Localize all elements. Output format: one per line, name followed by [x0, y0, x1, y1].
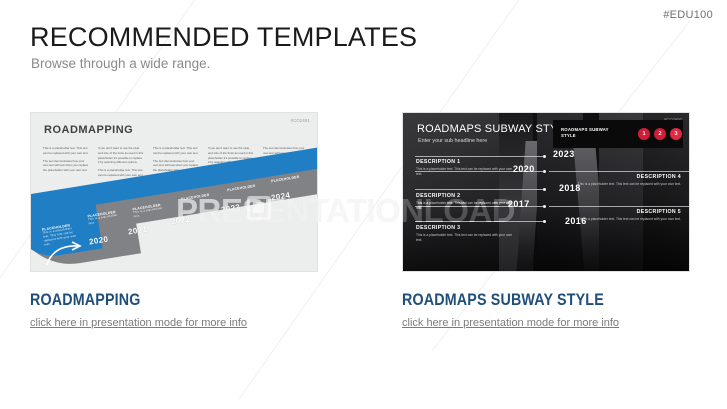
subway-description-4: DESCRIPTION 4 This is a placeholder text… — [571, 174, 681, 187]
subway-description-text: This is a placeholder text. This text ca… — [571, 217, 681, 222]
subway-connector-line — [549, 206, 689, 207]
card-caption-roadmapping[interactable]: ROADMAPPING — [30, 290, 272, 310]
subway-connector-line — [415, 221, 545, 222]
subway-description-text: This is a placeholder text. This text ca… — [571, 182, 681, 187]
subway-year: 2023 — [553, 149, 575, 159]
slide-canvas: #EDU100 RECOMMENDED TEMPLATES Browse thr… — [0, 0, 727, 409]
roadmapping-slide-title: ROADMAPPING — [44, 124, 133, 136]
roadmap-year: 2023 — [220, 203, 241, 215]
roadmap-arrow-icon — [45, 241, 85, 272]
page-subtitle: Browse through a wide range. — [31, 56, 210, 71]
subway-node — [543, 155, 546, 158]
page-title: RECOMMENDED TEMPLATES — [30, 22, 417, 53]
roadmapping-text-column: This is a placeholder text. This text ca… — [43, 146, 89, 181]
template-thumbnail-roadmapping[interactable]: ROADMAPPING #CO2491 This is a placeholde… — [30, 112, 318, 272]
template-thumbnail-subway[interactable]: ROADMAPS SUBWAY STYLE Enter your sub hea… — [402, 112, 690, 272]
subway-description-title: DESCRIPTION 1 — [416, 159, 516, 165]
subway-description-title: DESCRIPTION 4 — [571, 174, 681, 180]
template-card-roadmapping[interactable]: ROADMAPPING #CO2491 This is a placeholde… — [30, 112, 318, 331]
placeholder-paragraph: The text demonstrates how your own text … — [43, 159, 89, 173]
card-link-roadmapping[interactable]: click here in presentation mode for more… — [30, 317, 247, 329]
subway-year: 2020 — [513, 164, 535, 174]
subway-description-text: This is a placeholder text. This text ca… — [416, 201, 516, 212]
subway-connector-line — [549, 171, 689, 172]
subway-description-5: DESCRIPTION 5 This is a placeholder text… — [571, 209, 681, 222]
card-link-subway[interactable]: click here in presentation mode for more… — [402, 317, 619, 329]
roadmapping-slide: ROADMAPPING #CO2491 This is a placeholde… — [31, 113, 317, 271]
subway-node — [543, 170, 546, 173]
roadmapping-slide-code: #CO2491 — [291, 118, 310, 123]
subway-node — [543, 205, 546, 208]
subway-slide-subtitle: Enter your sub headline here — [418, 138, 487, 144]
subway-description-1: DESCRIPTION 1 This is a placeholder text… — [416, 159, 516, 178]
subway-slide: ROADMAPS SUBWAY STYLE Enter your sub hea… — [403, 113, 689, 271]
subway-connector-line — [415, 156, 545, 157]
roadmap-year: 2022 — [170, 215, 191, 227]
roadmap-year: 2024 — [270, 191, 291, 203]
placeholder-paragraph: This is a placeholder text. This text ca… — [153, 146, 199, 156]
placeholder-paragraph: This is a placeholder text. This text ca… — [43, 146, 89, 156]
subway-description-2: DESCRIPTION 2 This is a placeholder text… — [416, 193, 516, 212]
placeholder-paragraph: If you don't want to use the style and s… — [98, 146, 144, 165]
slide-code: #EDU100 — [663, 9, 713, 21]
subway-description-title: DESCRIPTION 3 — [416, 225, 516, 231]
subway-step-dot-3[interactable]: 3 — [670, 128, 682, 140]
subway-slide-title: ROADMAPS SUBWAY STYLE — [417, 123, 571, 135]
subway-step-dot-1[interactable]: 1 — [638, 128, 650, 140]
subway-description-text: This is a placeholder text. This text ca… — [416, 233, 516, 244]
subway-node — [543, 188, 546, 191]
subway-description-text: This is a placeholder text. This text ca… — [416, 167, 516, 178]
subway-nav-label: ROADMAPS SUBWAY STYLE — [561, 127, 621, 139]
subway-node — [543, 220, 546, 223]
subway-nav-box: ROADMAPS SUBWAY STYLE 1 2 3 — [553, 120, 683, 148]
template-card-subway[interactable]: ROADMAPS SUBWAY STYLE Enter your sub hea… — [402, 112, 690, 331]
card-caption-subway[interactable]: ROADMAPS SUBWAY STYLE — [402, 290, 644, 310]
subway-connector-line — [415, 189, 545, 190]
roadmap-year: 2021 — [127, 225, 148, 237]
subway-description-3: DESCRIPTION 3 This is a placeholder text… — [416, 225, 516, 244]
roadmapping-text-column: If you don't want to use the style and s… — [98, 146, 144, 181]
subway-description-title: DESCRIPTION 2 — [416, 193, 516, 199]
subway-description-title: DESCRIPTION 5 — [571, 209, 681, 215]
subway-step-dot-2[interactable]: 2 — [654, 128, 666, 140]
